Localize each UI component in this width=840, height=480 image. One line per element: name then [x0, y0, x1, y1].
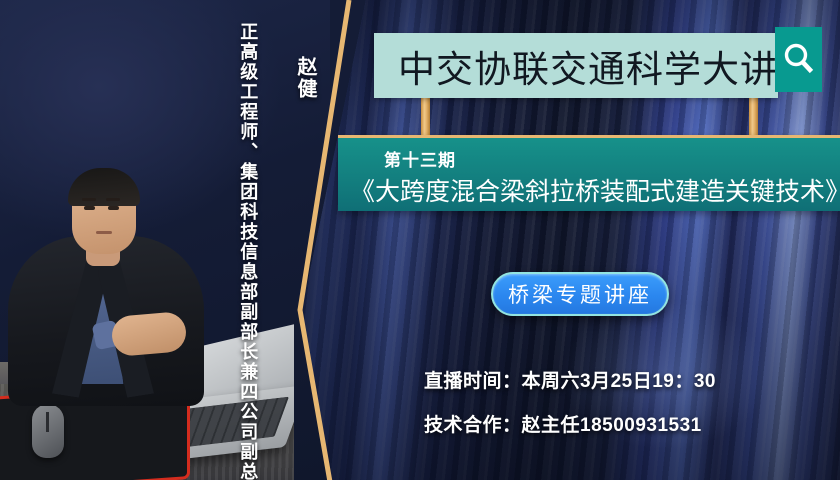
sign-post-right — [749, 98, 758, 136]
search-icon-button[interactable] — [775, 27, 822, 92]
sign-post-left — [421, 98, 430, 136]
speaker-credentials: 正高级工程师、集团科技信息部副部长兼四公司副总经理、总工程师 — [237, 22, 258, 480]
episode-number: 第十三期 — [384, 146, 456, 171]
topic-badge[interactable]: 桥梁专题讲座 — [491, 272, 669, 316]
search-icon — [782, 42, 816, 78]
eye-left — [84, 206, 95, 210]
eye-right — [108, 206, 119, 210]
topic-badge-label: 桥梁专题讲座 — [508, 279, 652, 309]
program-title-banner: 中交协联交通科学大讲堂 — [374, 33, 778, 98]
poster-canvas: 正高级工程师、集团科技信息部副部长兼四公司副总经理、总工程师 赵健 中交协联交通… — [0, 0, 840, 480]
contact-info: 技术合作：赵主任18500931531 — [424, 410, 702, 437]
hair — [68, 168, 140, 206]
speaker-figure — [8, 156, 204, 406]
speaker-name: 赵健 — [293, 56, 316, 100]
broadcast-time: 直播时间：本周六3月25日19：30 — [424, 366, 716, 393]
program-title-text: 中交协联交通科学大讲堂 — [374, 39, 816, 93]
eyebrow-right — [106, 198, 120, 201]
speaker-panel: 正高级工程师、集团科技信息部副部长兼四公司副总经理、总工程师 赵健 — [0, 0, 330, 480]
computer-mouse — [32, 404, 64, 458]
episode-banner: 第十三期 《大跨度混合梁斜拉桥装配式建造关键技术》 — [338, 135, 840, 211]
mouth — [96, 231, 112, 234]
eyebrow-left — [82, 198, 96, 201]
episode-topic: 《大跨度混合梁斜拉桥装配式建造关键技术》 — [350, 172, 840, 208]
